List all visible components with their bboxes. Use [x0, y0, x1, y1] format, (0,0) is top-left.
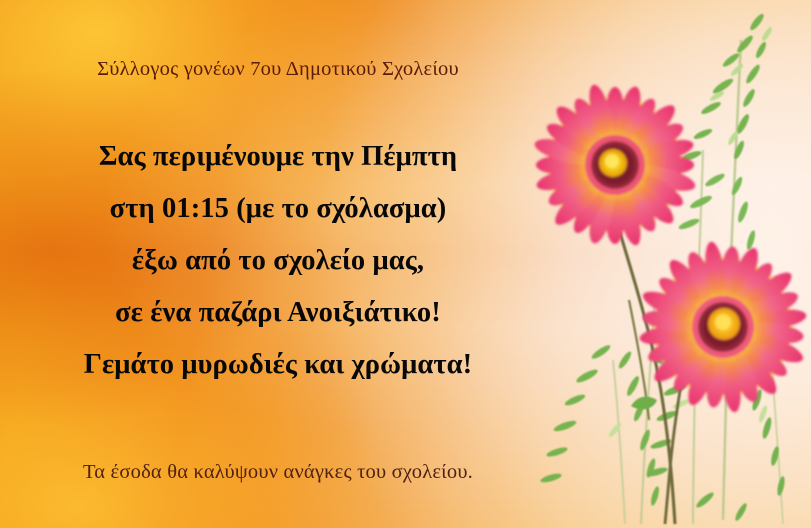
flower-upper	[532, 82, 698, 247]
announcement-line-3: έξω από το σχολείο μας,	[0, 235, 556, 287]
announcement-body: Σας περιμένουμε την Πέμπτη στη 01:15 (με…	[0, 131, 556, 391]
organization-header: Σύλλογος γονέων 7ου Δημοτικού Σχολείου	[0, 58, 556, 81]
proceeds-note: Τα έσοδα θα καλύψουν ανάγκες του σχολείο…	[0, 461, 556, 484]
flower-lower	[638, 241, 807, 414]
poster-canvas: Σύλλογος γονέων 7ου Δημοτικού Σχολείου Σ…	[0, 0, 811, 528]
grass-cluster	[540, 12, 786, 524]
announcement-line-2: στη 01:15 (με το σχόλασμα)	[0, 183, 556, 235]
announcement-line-5: Γεμάτο μυρωδιές και χρώματα!	[0, 339, 556, 391]
announcement-line-4: σε ένα παζάρι Ανοιξιάτικο!	[0, 287, 556, 339]
announcement-line-1: Σας περιμένουμε την Πέμπτη	[0, 131, 556, 183]
flower-stems	[609, 196, 691, 524]
poster-text-column: Σύλλογος γονέων 7ου Δημοτικού Σχολείου Σ…	[0, 0, 556, 528]
